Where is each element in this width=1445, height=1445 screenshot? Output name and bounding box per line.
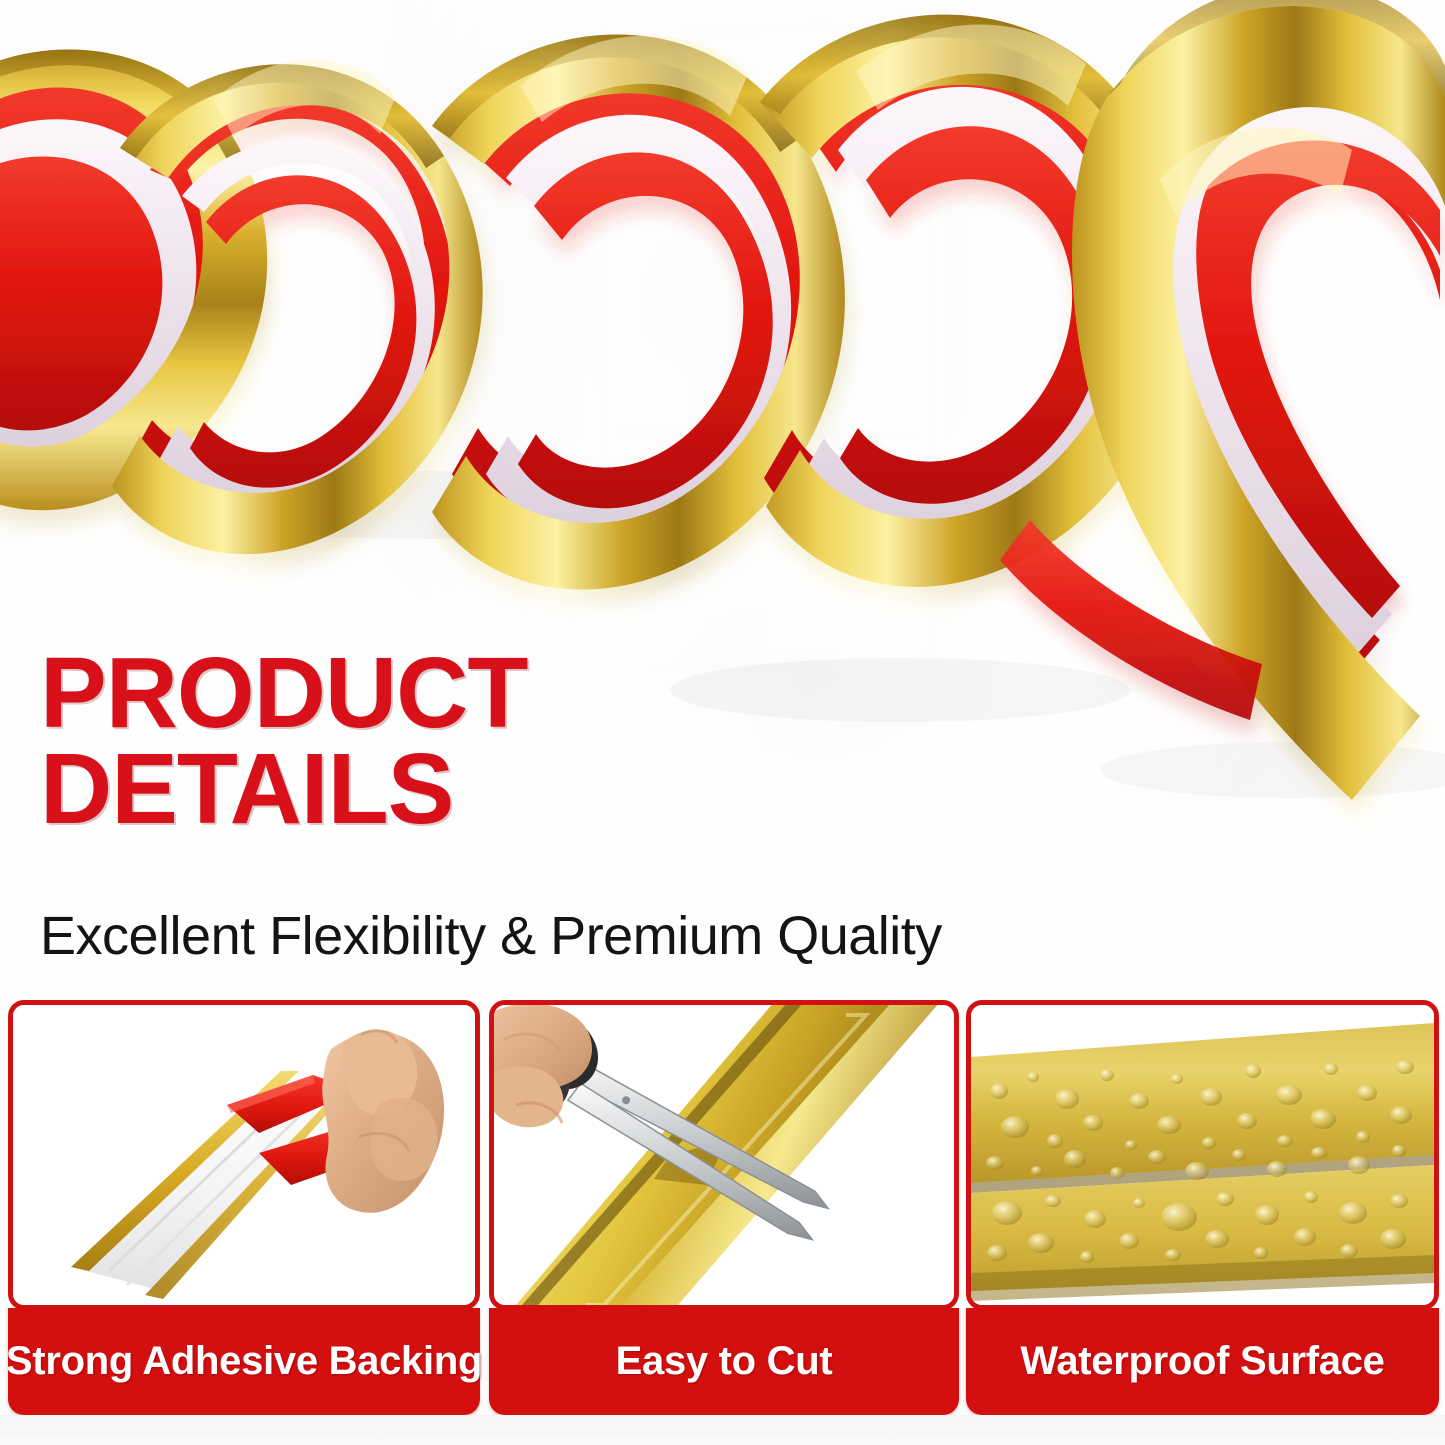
feature-panel-cut: Easy to Cut	[489, 1000, 959, 1415]
water-droplets-on-gold-illustration	[971, 1005, 1434, 1305]
feature-image-cut	[489, 1000, 959, 1310]
page-title: PRODUCT DETAILS	[40, 645, 800, 837]
feature-caption-cut: Easy to Cut	[489, 1308, 959, 1415]
feature-image-waterproof	[966, 1000, 1439, 1310]
page-subtitle: Excellent Flexibility & Premium Quality	[40, 905, 1240, 967]
feature-caption-text: Strong Adhesive Backing	[6, 1339, 482, 1384]
bottom-surface	[0, 1415, 1445, 1445]
hand-peeling-adhesive-illustration	[13, 1005, 475, 1305]
feature-panel-waterproof: Waterproof Surface	[966, 1000, 1439, 1415]
feature-image-adhesive	[8, 1000, 480, 1310]
feature-panel-adhesive: Strong Adhesive Backing	[8, 1000, 480, 1415]
scissors-cutting-illustration	[494, 1005, 954, 1305]
feature-panel-row: Strong Adhesive Backing	[0, 1000, 1445, 1425]
feature-caption-waterproof: Waterproof Surface	[966, 1308, 1439, 1415]
feature-caption-text: Waterproof Surface	[1020, 1339, 1384, 1384]
feature-caption-text: Easy to Cut	[616, 1339, 833, 1384]
page-title-line2: DETAILS	[40, 741, 800, 837]
product-detail-image: PRODUCT DETAILS Excellent Flexibility & …	[0, 0, 1445, 1445]
feature-caption-adhesive: Strong Adhesive Backing	[8, 1308, 480, 1415]
